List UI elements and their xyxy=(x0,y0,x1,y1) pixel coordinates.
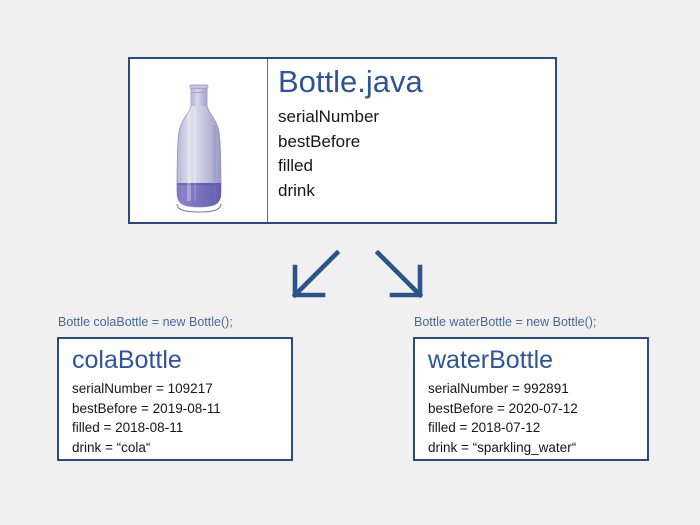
instance-title-water-bottle: waterBottle xyxy=(428,345,647,376)
instance-group-cola-bottle: Bottle colaBottle = new Bottle(); colaBo… xyxy=(57,314,293,461)
instance-field-item: bestBefore = 2020-07-12 xyxy=(428,399,647,419)
instantiation-arrows xyxy=(280,250,435,306)
class-attribute-list: serialNumber bestBefore filled drink xyxy=(278,105,555,203)
class-box-bottle-java: Bottle.java serialNumber bestBefore fill… xyxy=(128,57,557,224)
instance-title-cola-bottle: colaBottle xyxy=(72,345,291,376)
instance-caption-water-bottle: Bottle waterBottle = new Bottle(); xyxy=(413,314,649,330)
class-attribute-item: bestBefore xyxy=(278,130,555,155)
arrow-to-cola-bottle xyxy=(295,253,337,295)
bottle-illustration-icon xyxy=(161,79,237,215)
instance-field-item: filled = 2018-08-11 xyxy=(72,418,291,438)
instance-group-water-bottle: Bottle waterBottle = new Bottle(); water… xyxy=(413,314,649,461)
instance-field-list: serialNumber = 109217 bestBefore = 2019-… xyxy=(72,379,291,457)
class-box-image-cell xyxy=(130,59,268,222)
instance-field-list: serialNumber = 992891 bestBefore = 2020-… xyxy=(428,379,647,457)
instance-caption-cola-bottle: Bottle colaBottle = new Bottle(); xyxy=(57,314,293,330)
instance-field-item: drink = “sparkling_water“ xyxy=(428,438,647,458)
class-attribute-item: drink xyxy=(278,179,555,204)
diagram-canvas: Bottle.java serialNumber bestBefore fill… xyxy=(0,0,700,525)
instance-field-item: serialNumber = 109217 xyxy=(72,379,291,399)
arrow-to-water-bottle xyxy=(378,253,420,295)
instance-field-item: filled = 2018-07-12 xyxy=(428,418,647,438)
instance-field-item: serialNumber = 992891 xyxy=(428,379,647,399)
instance-field-item: drink = “cola“ xyxy=(72,438,291,458)
instance-box-cola-bottle: colaBottle serialNumber = 109217 bestBef… xyxy=(57,337,293,461)
instance-box-water-bottle: waterBottle serialNumber = 992891 bestBe… xyxy=(413,337,649,461)
class-attribute-item: filled xyxy=(278,154,555,179)
class-title: Bottle.java xyxy=(278,63,555,101)
instance-field-item: bestBefore = 2019-08-11 xyxy=(72,399,291,419)
class-attribute-item: serialNumber xyxy=(278,105,555,130)
class-box-body-cell: Bottle.java serialNumber bestBefore fill… xyxy=(268,59,555,222)
